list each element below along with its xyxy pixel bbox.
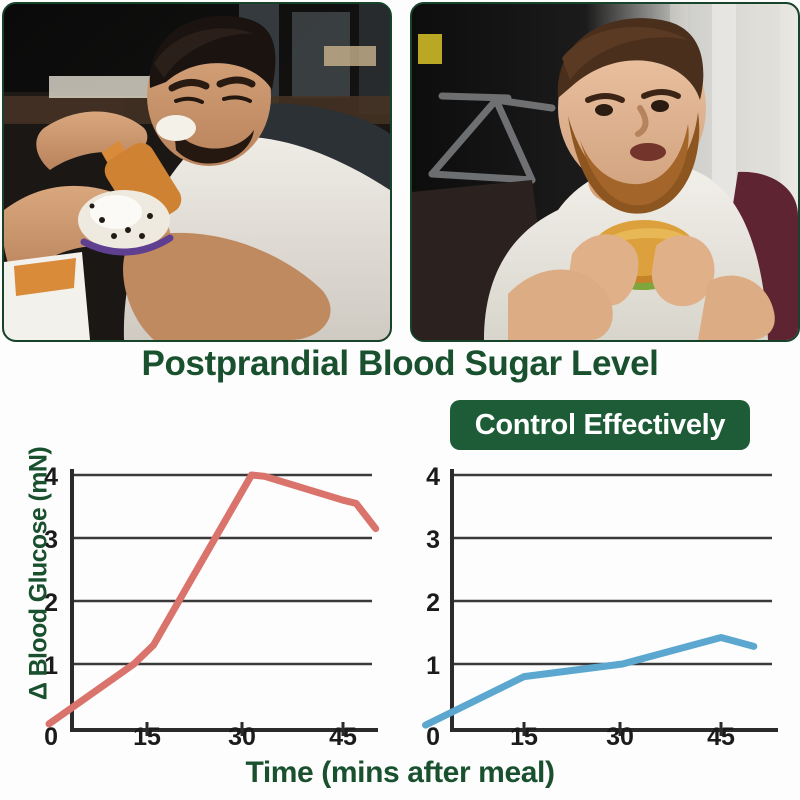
gridlines-left: [72, 475, 372, 664]
photo-man-eating-churro: [2, 2, 392, 342]
photo-right-illustration: [412, 4, 798, 340]
photo-left-illustration: [4, 4, 390, 340]
x-tick-label-30: 30: [228, 723, 256, 745]
photo-left-canvas: [4, 4, 390, 340]
control-effectively-badge: Control Effectively: [450, 400, 750, 450]
y-tick-label-3: 3: [426, 526, 440, 554]
y-tick-label-2: 2: [426, 589, 440, 617]
x-axis-label: Time (mins after meal): [0, 756, 800, 790]
x-tick-label-45: 45: [329, 723, 357, 745]
page-title: Postprandial Blood Sugar Level: [0, 344, 800, 384]
y-tick-label-4: 4: [426, 463, 440, 491]
series-line-uncontrolled: [49, 475, 376, 724]
chart-uncontrolled-svg: 4 3 2 1 0 15 30 45: [0, 455, 400, 745]
y-axis-label: Δ Blood Glucose (mN): [25, 439, 54, 709]
series-line-controlled: [426, 638, 754, 726]
photo-right-canvas: [412, 4, 798, 340]
chart-controlled-blood-glucose: 4 3 2 1 0 15 30 45: [420, 455, 800, 745]
photo-strip: [0, 0, 800, 340]
x-tick-label-30: 30: [606, 723, 634, 745]
chart-controlled-svg: 4 3 2 1 0 15 30 45: [420, 455, 800, 745]
y-tick-label-1: 1: [426, 652, 440, 680]
poster-root: Postprandial Blood Sugar Level Control E…: [0, 0, 800, 800]
photo-bearded-man-eating-burger: [410, 2, 800, 342]
x-tick-label-15: 15: [133, 723, 161, 745]
x-tick-label-45: 45: [707, 723, 735, 745]
x-tick-label-15: 15: [510, 723, 538, 745]
chart-uncontrolled-blood-glucose: 4 3 2 1 0 15 30 45 Δ Blood Glucose (mN): [0, 455, 400, 745]
